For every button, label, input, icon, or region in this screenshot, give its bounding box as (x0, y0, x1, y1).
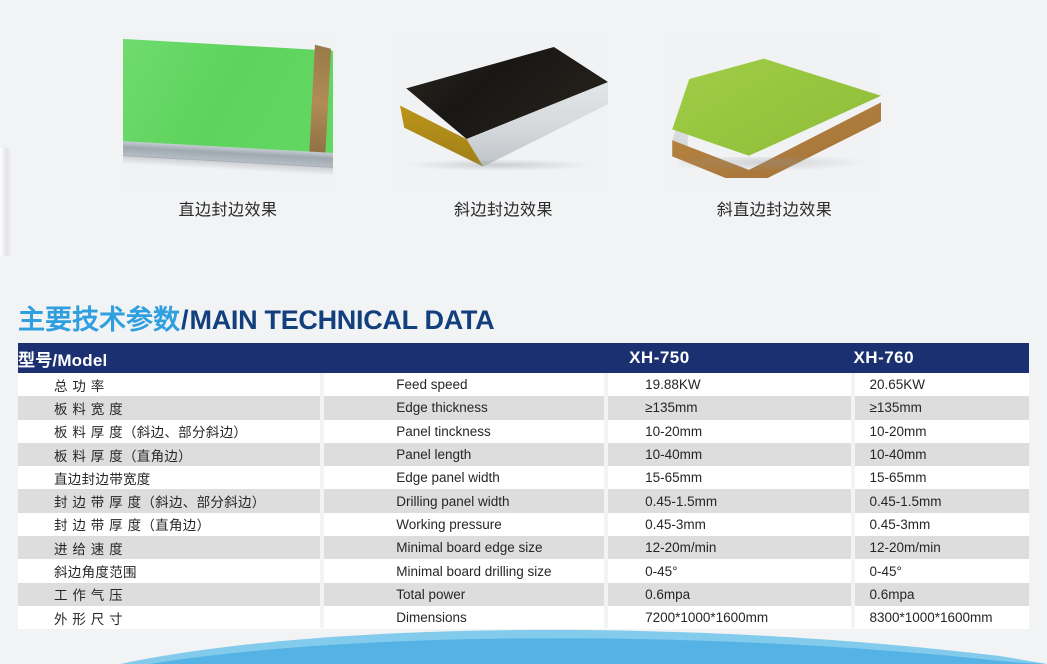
spec-name-en: Panel length (340, 443, 629, 466)
spec-name-cn: 封 边 带 厚 度（直角边） (18, 513, 340, 536)
spec-name-cn: 板 料 厚 度（直角边） (18, 443, 340, 466)
column-gutter-2 (604, 373, 608, 628)
section-heading-english: MAIN TECHNICAL DATA (190, 305, 495, 335)
table-row: 封 边 带 厚 度（斜边、部分斜边）Drilling panel width0.… (18, 489, 1029, 512)
product-image-gallery: 直边封边效果 斜边封边效果 斜直边封边效果 (0, 0, 1047, 250)
gallery-caption-2: 斜边封边效果 (398, 196, 609, 220)
spec-value-xh750: 10-20mm (629, 420, 853, 443)
section-heading-separator: / (180, 305, 190, 335)
table-row: 板 料 厚 度（直角边）Panel length10-40mm10-40mm (18, 443, 1029, 466)
spec-value-xh760: 0-45° (853, 559, 1029, 582)
section-heading: 主要技术参数/MAIN TECHNICAL DATA (18, 303, 494, 338)
table-row: 封 边 带 厚 度（直角边）Working pressure0.45-3mm0.… (18, 513, 1029, 536)
spec-name-en: Edge thickness (340, 396, 629, 419)
spec-name-en: Total power (340, 583, 629, 606)
spec-value-xh760: 8300*1000*1600mm (853, 606, 1029, 629)
column-header-english (340, 343, 629, 373)
gallery-caption-3: 斜直边封边效果 (668, 196, 881, 220)
spec-name-en: Feed speed (340, 373, 629, 396)
bevel-straight-edge-banding-sample-image (668, 33, 881, 190)
spec-name-cn: 工 作 气 压 (18, 583, 340, 606)
column-header-xh760: XH-760 (853, 343, 1029, 373)
spec-value-xh750: 15-65mm (629, 466, 853, 489)
spec-name-cn: 板 料 宽 度 (18, 396, 340, 419)
table-row: 进 给 速 度Minimal board edge size12-20m/min… (18, 536, 1029, 559)
spec-value-xh750: 7200*1000*1600mm (629, 606, 853, 629)
spec-name-en: Panel tinckness (340, 420, 629, 443)
spec-name-cn: 直边封边带宽度 (18, 466, 340, 489)
spec-value-xh760: ≥135mm (853, 396, 1029, 419)
column-gutter-1 (320, 373, 324, 628)
gallery-figure-2: 斜边封边效果 (398, 33, 609, 190)
spec-value-xh760: 0.45-3mm (853, 513, 1029, 536)
spec-value-xh750: 0-45° (629, 559, 853, 582)
spec-value-xh750: 0.45-1.5mm (629, 489, 853, 512)
table-body: 总 功 率Feed speed19.88KW20.65KW板 料 宽 度Edge… (18, 373, 1029, 629)
spec-name-cn: 总 功 率 (18, 373, 340, 396)
spec-name-en: Dimensions (340, 606, 629, 629)
table-row: 板 料 宽 度Edge thickness≥135mm≥135mm (18, 396, 1029, 419)
spec-value-xh750: ≥135mm (629, 396, 853, 419)
straight-edge-banding-sample-image (123, 33, 333, 190)
spec-value-xh750: 0.6mpa (629, 583, 853, 606)
spec-name-cn: 封 边 带 厚 度（斜边、部分斜边） (18, 489, 340, 512)
spec-value-xh760: 10-40mm (853, 443, 1029, 466)
spec-name-en: Working pressure (340, 513, 629, 536)
gallery-caption-1: 直边封边效果 (123, 196, 333, 220)
column-gutter-3 (851, 373, 855, 628)
spec-value-xh760: 15-65mm (853, 466, 1029, 489)
table-row: 直边封边带宽度Edge panel width15-65mm15-65mm (18, 466, 1029, 489)
table-row: 斜边角度范围Minimal board drilling size0-45°0-… (18, 559, 1029, 582)
table-header-row: 型号/Model XH-750 XH-760 (18, 343, 1029, 373)
spec-name-en: Edge panel width (340, 466, 629, 489)
table-row: 外 形 尺 寸Dimensions7200*1000*1600mm8300*10… (18, 606, 1029, 629)
table-row: 板 料 厚 度（斜边、部分斜边）Panel tinckness10-20mm10… (18, 420, 1029, 443)
column-header-xh750: XH-750 (629, 343, 853, 373)
spec-value-xh760: 20.65KW (853, 373, 1029, 396)
gallery-figure-1: 直边封边效果 (123, 33, 333, 190)
spec-value-xh750: 12-20m/min (629, 536, 853, 559)
spec-value-xh760: 0.6mpa (853, 583, 1029, 606)
spec-name-en: Drilling panel width (340, 489, 629, 512)
technical-data-table: 型号/Model XH-750 XH-760 总 功 率Feed speed19… (18, 343, 1029, 629)
spec-name-en: Minimal board edge size (340, 536, 629, 559)
spec-value-xh760: 0.45-1.5mm (853, 489, 1029, 512)
spec-value-xh750: 19.88KW (629, 373, 853, 396)
spec-name-cn: 板 料 厚 度（斜边、部分斜边） (18, 420, 340, 443)
table-row: 总 功 率Feed speed19.88KW20.65KW (18, 373, 1029, 396)
section-heading-chinese: 主要技术参数 (18, 305, 180, 336)
spec-name-cn: 进 给 速 度 (18, 536, 340, 559)
table-row: 工 作 气 压Total power0.6mpa0.6mpa (18, 583, 1029, 606)
spec-name-cn: 斜边角度范围 (18, 559, 340, 582)
spec-value-xh750: 10-40mm (629, 443, 853, 466)
spec-value-xh750: 0.45-3mm (629, 513, 853, 536)
spec-name-cn: 外 形 尺 寸 (18, 606, 340, 629)
column-header-model: 型号/Model (18, 343, 340, 373)
spec-name-en: Minimal board drilling size (340, 559, 629, 582)
gallery-figure-3: 斜直边封边效果 (668, 33, 881, 190)
board-shadow (678, 157, 868, 171)
board-shadow (404, 159, 594, 171)
spec-value-xh760: 10-20mm (853, 420, 1029, 443)
board-green-top-surface (668, 43, 881, 163)
spec-value-xh760: 12-20m/min (853, 536, 1029, 559)
bevel-edge-banding-sample-image (398, 33, 609, 190)
